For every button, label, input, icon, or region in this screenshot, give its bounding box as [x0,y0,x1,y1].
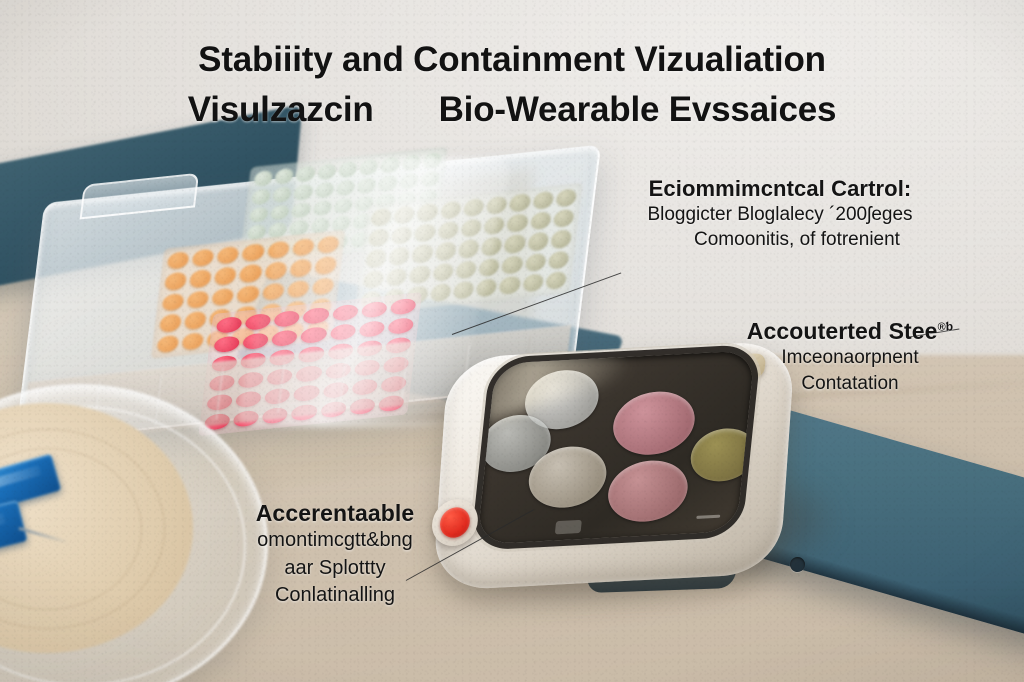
registered-trademark-icon: ® [938,321,946,333]
title-block: Stabiiity and Containment Vizualiation V… [0,40,1024,130]
page-title-line-2-left: Visulzazcin [188,90,374,129]
page-title-line-2: Visulzazcin Bio-Wearable Evssaices [0,90,1024,130]
callout-accerentaable: Accerentaable omontimcɡtt&bng aar Splott… [190,500,480,610]
callout-accoutered-heading: Accouterted Stee®ƅ [700,318,1000,345]
callout-accerentaable-line-2: aar Splottty [190,555,480,583]
screen-indicator-icon [696,515,720,519]
annotated-photo-scene: Stabiiity and Containment Vizualiation V… [0,0,1024,682]
callout-environmental-control: Eciommimcntcal Cartrol: Bloggicter Blogl… [570,176,990,252]
callout-accoutered-stee: Accouterted Stee®ƅ Imceonaorpnent Contat… [700,318,1000,397]
callout-environmental-line-2: Comoonitis, of fotrenient [570,227,990,252]
callout-accoutered-heading-text: Accouterted Stee [747,318,938,344]
callout-accoutered-line-2: Contatation [700,371,1000,397]
screen-well-pink [605,459,691,524]
page-title-line-2-right: Bio-Wearable Evssaices [439,90,837,129]
page-title-line-1: Stabiiity and Containment Vizualiation [0,40,1024,80]
callout-accerentaable-heading: Accerentaable [190,500,480,527]
callout-accoutered-line-1: Imceonaorpnent [700,345,1000,371]
callout-environmental-line-1: Bloggicter Bloglalecy ´200ʃeges [570,202,990,227]
callout-environmental-heading: Eciommimcntcal Cartrol: [570,176,990,202]
callout-accoutered-superscript-2: ƅ [946,319,953,333]
screen-readout-icon [555,520,582,535]
callout-accerentaable-line-3: Conlatinalling [190,582,480,610]
screen-well-pink [610,390,698,457]
callout-accerentaable-line-1: omontimcɡtt&bng [190,527,480,555]
